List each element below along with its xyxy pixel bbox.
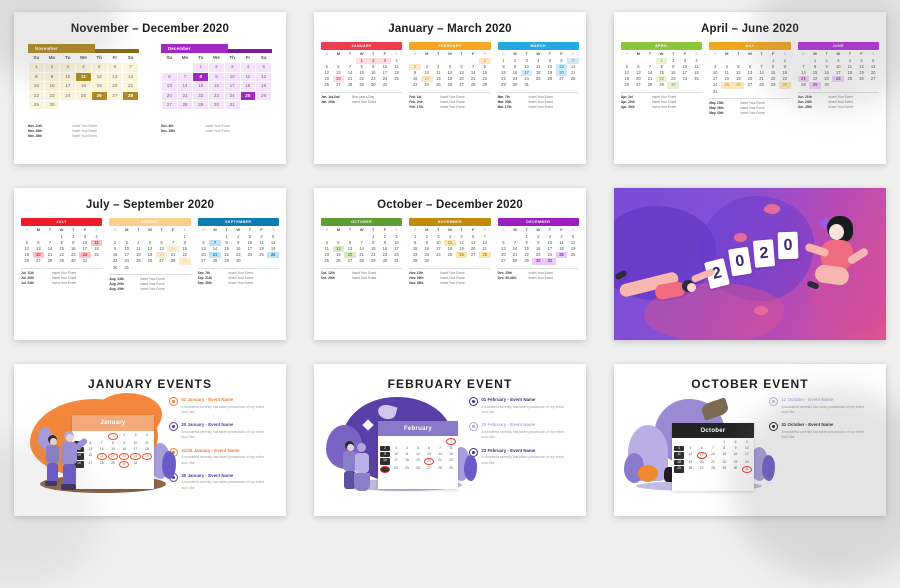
mini-calendar-day-13[interactable]: 13 <box>85 447 95 452</box>
calendar-day-31[interactable]: 31 <box>121 265 133 271</box>
calendar-day-25[interactable]: 25 <box>240 91 256 100</box>
mini-calendar-january: January 12345678910111213141516171819202… <box>72 415 154 489</box>
calendar-day-empty <box>91 258 103 264</box>
slide-jan-mar[interactable]: January – March 2020 JANUARYSMTWTFS12345… <box>314 12 586 164</box>
event-list-item[interactable]: 30 January - Event NameA wonderful seren… <box>169 473 272 491</box>
calendar-day-10[interactable]: 10 <box>60 72 76 81</box>
calendar-day-empty <box>256 110 272 119</box>
calendar-table-december: Su Mo Tu We Th Fr Sa 1234567891011121314… <box>161 53 272 120</box>
mini-calendar-day-14[interactable]: 14 <box>708 452 718 459</box>
calendar-day-29[interactable]: 29 <box>521 258 533 264</box>
calendar-day-29[interactable]: 29 <box>367 258 379 264</box>
calendar-week-row: 15161718192021 <box>29 82 139 91</box>
calendar-day-19[interactable]: 19 <box>256 82 272 91</box>
mini-calendar-day-7[interactable]: 7 <box>97 441 107 446</box>
month-name: JUNE <box>798 42 879 50</box>
mini-calendar-day-9[interactable]: 9 <box>119 441 129 446</box>
mini-calendar-day-16[interactable]: 16 <box>380 458 390 465</box>
calendar-day-28[interactable]: 28 <box>209 258 221 264</box>
calendar-day-30[interactable]: 30 <box>209 101 225 110</box>
slide-title: April – June 2020 <box>614 23 886 35</box>
calendar-day-empty <box>193 110 209 119</box>
event-heading: 31 October - Event Name <box>781 422 872 428</box>
mini-calendar-day-13[interactable]: 13 <box>697 452 707 459</box>
event-list-item[interactable]: 23 February - Event NameA wonderful sere… <box>469 448 572 466</box>
mini-calendar-day-7[interactable]: 7 <box>435 446 445 451</box>
slide-february-event[interactable]: FEBRUARY EVENT February 1234567891011121… <box>314 364 586 516</box>
mini-calendar-day-8[interactable]: 8 <box>108 441 118 446</box>
mini-calendar-day-4[interactable]: 4 <box>402 446 412 451</box>
mini-calendar-day-22[interactable]: 22 <box>719 460 729 465</box>
mini-calendar-day-10[interactable]: 10 <box>742 446 752 451</box>
calendar-day-30[interactable]: 30 <box>367 82 379 88</box>
slide-title: January – March 2020 <box>314 23 586 35</box>
calendar-day-24[interactable]: 24 <box>60 91 76 100</box>
month-events-november: Nov. 11thInsert Your EventNov. 26thInser… <box>28 124 139 140</box>
calendar-day-29[interactable]: 29 <box>656 82 668 88</box>
calendar-day-10[interactable]: 10 <box>224 72 240 81</box>
calendar-day-29[interactable]: 29 <box>409 258 421 264</box>
calendar-day-30[interactable]: 30 <box>44 101 60 110</box>
mini-calendar-day-11[interactable]: 11 <box>674 452 684 459</box>
event-body-text: A wonderful serenity has taken possessio… <box>181 405 272 416</box>
slide-cell-7: JANUARY EVENTS January 12345678910111213… <box>0 352 300 528</box>
mini-calendar-day-22[interactable]: 22 <box>108 453 118 460</box>
calendar-day-7[interactable]: 7 <box>177 72 193 81</box>
month-events: Nov. 11thInsert Your EventNov. 26thInser… <box>409 268 490 287</box>
mini-calendar-day-20[interactable]: 20 <box>424 458 434 465</box>
mini-calendar-day-30[interactable]: 30 <box>119 461 129 468</box>
calendar-day-23[interactable]: 23 <box>409 82 421 88</box>
calendar-day-29[interactable]: 29 <box>356 82 368 88</box>
calendar-day-empty <box>123 110 139 119</box>
calendar-event-row: Jan. 20thInsert Your Event <box>321 100 402 105</box>
calendar-day-16[interactable]: 16 <box>44 82 60 91</box>
weekday-row: Su Mo Tu We Th Fr Sa <box>29 54 139 63</box>
mini-calendar-day-13[interactable]: 13 <box>424 452 434 457</box>
calendar-day-9[interactable]: 9 <box>44 72 60 81</box>
calendar-day-24[interactable]: 24 <box>421 82 433 88</box>
calendar-day-9[interactable]: 9 <box>209 72 225 81</box>
mini-calendar-day-22[interactable]: 22 <box>446 458 456 465</box>
calendar-day-29[interactable]: 29 <box>498 82 510 88</box>
blob-purple-right2 <box>162 451 176 479</box>
calendar-day-empty <box>76 101 92 110</box>
mini-calendar-day-28[interactable]: 28 <box>435 466 445 473</box>
calendar-day-27[interactable]: 27 <box>498 258 510 264</box>
mini-calendar-day-1[interactable]: 1 <box>719 440 729 445</box>
calendar-day-26[interactable]: 26 <box>621 82 633 88</box>
blob-accent-2 <box>734 233 747 242</box>
calendar-day-7[interactable]: 7 <box>123 63 139 72</box>
mini-calendar-day-27[interactable]: 27 <box>424 466 434 473</box>
calendar-day-empty <box>156 265 168 271</box>
calendar-day-12[interactable]: 12 <box>91 72 107 81</box>
calendar-day-31[interactable]: 31 <box>379 82 391 88</box>
calendar-day-29[interactable]: 29 <box>221 258 233 264</box>
month-name: December <box>161 44 228 53</box>
calendar-day-26[interactable]: 26 <box>91 91 107 100</box>
calendar-day-27[interactable]: 27 <box>107 91 123 100</box>
calendar-day-28[interactable]: 28 <box>356 258 368 264</box>
mini-calendar-day-9[interactable]: 9 <box>380 452 390 457</box>
event-text: Insert Your Event <box>652 105 702 110</box>
mini-calendar-day-23[interactable]: 23 <box>119 453 129 460</box>
mini-calendar-day-31[interactable]: 31 <box>742 466 752 473</box>
mini-calendar-day-15[interactable]: 15 <box>108 447 118 452</box>
event-body-text: A wonderful serenity has taken possessio… <box>781 430 872 441</box>
calendar-day-30[interactable]: 30 <box>821 82 833 88</box>
mini-calendar-day-11[interactable]: 11 <box>402 452 412 457</box>
mini-calendar-day-3[interactable]: 3 <box>130 433 140 440</box>
calendar-day-18[interactable]: 18 <box>240 82 256 91</box>
calendar-day-22[interactable]: 22 <box>193 91 209 100</box>
event-list-item[interactable]: 20 January - Event NameA wonderful seren… <box>169 422 272 440</box>
mini-calendar-day-6[interactable]: 6 <box>697 446 707 451</box>
calendar-day-1[interactable]: 1 <box>29 63 45 72</box>
calendar-day-31[interactable]: 31 <box>521 82 533 88</box>
weekday-th: Th <box>91 54 107 63</box>
calendar-day-29[interactable]: 29 <box>193 101 209 110</box>
calendar-day-13[interactable]: 13 <box>162 82 178 91</box>
event-body-text: A wonderful serenity has taken possessio… <box>181 480 272 491</box>
calendar-day-30[interactable]: 30 <box>232 258 244 264</box>
calendar-day-24[interactable]: 24 <box>224 91 240 100</box>
mini-calendar-day-3[interactable]: 3 <box>742 440 752 445</box>
calendar-day-13[interactable]: 13 <box>107 72 123 81</box>
event-text-block: 30 January - Event NameA wonderful seren… <box>181 473 272 491</box>
month-events: Mar. 7thInsert Your EventMar. 30thInsert… <box>498 92 579 111</box>
calendar-day-26[interactable]: 26 <box>21 258 33 264</box>
calendar-day-28[interactable]: 28 <box>44 258 56 264</box>
calendar-day-empty <box>123 101 139 110</box>
month-november: November Su Mo Tu We Th Fr Sa 1234567891… <box>28 44 139 139</box>
calendar-day-6[interactable]: 6 <box>162 72 178 81</box>
calendar-day-29[interactable]: 29 <box>29 101 45 110</box>
mini-calendar-day-16[interactable]: 16 <box>730 452 740 459</box>
calendar-day-29[interactable]: 29 <box>479 82 491 88</box>
slide-jul-sep[interactable]: July – September 2020 JULYSMTWTFS1234567… <box>14 188 286 340</box>
mini-calendar-day-15[interactable]: 15 <box>446 452 456 457</box>
calendar-day-empty <box>444 258 456 264</box>
mini-calendar-day-28[interactable]: 28 <box>97 461 107 468</box>
mini-calendar-day-11[interactable]: 11 <box>142 441 152 446</box>
event-text: Insert Your Event <box>352 276 402 281</box>
mini-calendar-month-label: February <box>378 421 458 436</box>
mini-calendar-day-empty <box>697 440 707 445</box>
mini-calendar-day-25[interactable]: 25 <box>402 466 412 473</box>
mini-calendar-day-29[interactable]: 29 <box>108 461 118 468</box>
calendar-day-27[interactable]: 27 <box>344 258 356 264</box>
calendar-day-19[interactable]: 19 <box>91 82 107 91</box>
mini-calendar-day-8[interactable]: 8 <box>719 446 729 451</box>
calendar-day-30[interactable]: 30 <box>509 82 521 88</box>
mini-calendar-day-29[interactable]: 29 <box>719 466 729 473</box>
calendar-day-28[interactable]: 28 <box>344 82 356 88</box>
calendar-day-11[interactable]: 11 <box>76 72 92 81</box>
calendar-day-28[interactable]: 28 <box>644 82 656 88</box>
calendar-day-29[interactable]: 29 <box>809 82 821 88</box>
calendar-day-27[interactable]: 27 <box>198 258 210 264</box>
slide-october-event[interactable]: OCTOBER EVENT October 123456789101112131… <box>614 364 886 516</box>
pumpkin-icon <box>638 465 658 482</box>
calendar-day-20[interactable]: 20 <box>162 91 178 100</box>
mini-calendar-day-21[interactable]: 21 <box>708 460 718 465</box>
calendar-week-row: 2627282930 <box>621 82 702 88</box>
calendar-day-29[interactable]: 29 <box>56 258 68 264</box>
mini-calendar-day-25[interactable]: 25 <box>142 453 152 460</box>
mini-calendar-day-12[interactable]: 12 <box>413 452 423 457</box>
calendar-day-27[interactable]: 27 <box>633 82 645 88</box>
mini-calendar-day-29[interactable]: 29 <box>446 466 456 473</box>
calendar-day-14[interactable]: 14 <box>123 72 139 81</box>
weekday-mo: Mo <box>44 54 60 63</box>
event-text-block: 13 October - Event NameA wonderful seren… <box>781 397 872 415</box>
slide-poster-2020[interactable]: 2 0 2 0 <box>614 188 886 340</box>
calendar-day-14[interactable]: 14 <box>177 82 193 91</box>
calendar-week-row: 6789101112 <box>162 72 272 81</box>
calendar-day-21[interactable]: 21 <box>123 82 139 91</box>
calendar-day-28[interactable]: 28 <box>177 101 193 110</box>
calendar-day-26[interactable]: 26 <box>444 82 456 88</box>
calendar-day-31[interactable]: 31 <box>544 258 556 264</box>
slide-january-events[interactable]: JANUARY EVENTS January 12345678910111213… <box>14 364 286 516</box>
mini-calendar-day-12[interactable]: 12 <box>685 452 695 459</box>
calendar-day-empty <box>107 101 123 110</box>
calendar-day-18[interactable]: 18 <box>76 82 92 91</box>
event-heading: 23 February - Event Name <box>481 448 572 454</box>
calendar-day-27[interactable]: 27 <box>162 101 178 110</box>
mini-calendar-day-27[interactable]: 27 <box>697 466 707 473</box>
mini-calendar-day-2[interactable]: 2 <box>119 433 129 440</box>
mini-calendar-day-23[interactable]: 23 <box>730 460 740 465</box>
mini-calendar-day-27[interactable]: 27 <box>85 461 95 468</box>
calendar-day-17[interactable]: 17 <box>224 82 240 91</box>
calendar-day-27[interactable]: 27 <box>456 82 468 88</box>
calendar-day-12[interactable]: 12 <box>256 72 272 81</box>
mini-calendar-day-10[interactable]: 10 <box>391 452 401 457</box>
month-january: JANUARYSMTWTFS12345678910111213141516171… <box>321 42 402 110</box>
calendar-day-30[interactable]: 30 <box>67 258 79 264</box>
month-december: DECEMBERSMTWTFS1234567891011121314151617… <box>498 218 579 286</box>
mini-calendar-day-18[interactable]: 18 <box>674 460 684 465</box>
calendar-day-11[interactable]: 11 <box>240 72 256 81</box>
calendar-day-30[interactable]: 30 <box>667 82 679 88</box>
calendar-day-15[interactable]: 15 <box>193 82 209 91</box>
calendar-table: SMTWTFS123456789101112131415161718192021… <box>498 227 579 264</box>
event-body-text: A wonderful serenity has taken possessio… <box>481 430 572 441</box>
calendar-day-28[interactable]: 28 <box>798 82 810 88</box>
calendar-day-25[interactable]: 25 <box>433 82 445 88</box>
calendar-day-empty <box>567 258 579 264</box>
calendar-day-31[interactable]: 31 <box>391 258 403 264</box>
mini-calendar-day-19[interactable]: 19 <box>685 460 695 465</box>
blob-accent-4 <box>754 306 768 315</box>
event-list-item[interactable]: 01 January - Event NameA wonderful seren… <box>169 397 272 415</box>
calendar-week-row <box>29 110 139 119</box>
calendar-day-1[interactable]: 1 <box>193 63 209 72</box>
month-events: Feb. 1stInsert Your EventFeb. 2ndInsert … <box>409 92 490 111</box>
mini-calendar-day-empty <box>685 440 695 445</box>
mini-calendar-day-6[interactable]: 6 <box>424 446 434 451</box>
mini-calendar-day-24[interactable]: 24 <box>742 460 752 465</box>
calendar-day-25[interactable]: 25 <box>76 91 92 100</box>
calendar-day-2[interactable]: 2 <box>44 63 60 72</box>
mini-calendar-day-15[interactable]: 15 <box>719 452 729 459</box>
quarter-row: APRILSMTWTFS1234567891011121314151617181… <box>614 42 886 116</box>
calendar-day-30[interactable]: 30 <box>421 258 433 264</box>
event-date: Dec. 30-31th <box>498 276 529 281</box>
mini-calendar-day-14[interactable]: 14 <box>97 447 107 452</box>
slide-oct-dec[interactable]: October – December 2020 OCTOBERSMTWTFS12… <box>314 188 586 340</box>
calendar-day-28[interactable]: 28 <box>509 258 521 264</box>
calendar-day-empty <box>844 82 856 88</box>
calendar-day-25[interactable]: 25 <box>321 258 333 264</box>
mini-calendar-day-10[interactable]: 10 <box>130 441 140 446</box>
mini-calendar-day-19[interactable]: 19 <box>413 458 423 465</box>
month-events: Aug. 14thInsert Your EventAug. 20thInser… <box>109 274 190 293</box>
mini-calendar-day-14[interactable]: 14 <box>435 452 445 457</box>
month-name: JULY <box>21 218 102 226</box>
calendar-day-31[interactable]: 31 <box>224 101 240 110</box>
mini-calendar-day-3[interactable]: 3 <box>391 446 401 451</box>
mini-calendar-day-18[interactable]: 18 <box>142 447 152 452</box>
mini-calendar-day-23[interactable]: 23 <box>380 466 390 473</box>
mini-calendar-day-17[interactable]: 17 <box>742 452 752 459</box>
event-list-item[interactable]: 31 October - Event NameA wonderful seren… <box>769 422 872 440</box>
calendar-day-31[interactable]: 31 <box>709 89 721 95</box>
event-list-item[interactable]: 13 October - Event NameA wonderful seren… <box>769 397 872 415</box>
slide-cell-6: 2 0 2 0 <box>600 176 900 352</box>
month-events: Oct. 12thInsert Your EventOct. 20thInser… <box>321 268 402 282</box>
event-list-item[interactable]: 01 February - Event NameA wonderful sere… <box>469 397 572 415</box>
mini-calendar-day-empty <box>97 433 107 440</box>
calendar-table: SMTWTFS123456789101112131415161718192021… <box>798 51 879 88</box>
event-text: Insert Your Event <box>140 287 190 292</box>
mini-calendar-day-26[interactable]: 26 <box>685 466 695 473</box>
witch-icon <box>700 397 730 420</box>
month-name: AUGUST <box>109 218 190 226</box>
calendar-day-31[interactable]: 31 <box>79 258 91 264</box>
calendar-week-row: 262728293031 <box>321 82 402 88</box>
calendar-day-17[interactable]: 17 <box>60 82 76 91</box>
slide-title: OCTOBER EVENT <box>614 377 886 391</box>
calendar-week-row: 20212223242526 <box>162 91 272 100</box>
calendar-day-27[interactable]: 27 <box>333 82 345 88</box>
calendar-day-30[interactable]: 30 <box>109 265 121 271</box>
calendar-day-21[interactable]: 21 <box>177 91 193 100</box>
mini-calendar-day-31[interactable]: 31 <box>130 461 140 468</box>
calendar-day-26[interactable]: 26 <box>333 258 345 264</box>
mini-calendar-day-1[interactable]: 1 <box>108 433 118 440</box>
mini-calendar-day-21[interactable]: 21 <box>97 453 107 460</box>
mini-calendar-day-5[interactable]: 5 <box>685 446 695 451</box>
calendar-day-empty <box>29 110 45 119</box>
event-heading: 01 January - Event Name <box>181 397 272 403</box>
mini-calendar-day-2[interactable]: 2 <box>380 446 390 451</box>
calendar-day-2[interactable]: 2 <box>209 63 225 72</box>
calendar-week-row: 25262728293031 <box>321 258 402 264</box>
mini-calendar-day-4[interactable]: 4 <box>674 446 684 451</box>
mini-calendar-day-25[interactable]: 25 <box>674 466 684 473</box>
calendar-week-row: 31 <box>709 89 790 95</box>
calendar-day-4[interactable]: 4 <box>76 63 92 72</box>
calendar-day-26[interactable]: 26 <box>256 91 272 100</box>
month-february: FEBRUARYSMTWTFS1234567891011121314151617… <box>409 42 490 110</box>
mini-calendar-day-28[interactable]: 28 <box>708 466 718 473</box>
calendar-day-23[interactable]: 23 <box>44 91 60 100</box>
calendar-day-8[interactable]: 8 <box>29 72 45 81</box>
mini-calendar-day-4[interactable]: 4 <box>142 433 152 440</box>
mini-calendar-day-8[interactable]: 8 <box>446 446 456 451</box>
calendar-day-27[interactable]: 27 <box>33 258 45 264</box>
calendar-day-5[interactable]: 5 <box>91 63 107 72</box>
slide-nov-dec[interactable]: November – December 2020 November Su Mo … <box>14 12 286 164</box>
mini-calendar-day-20[interactable]: 20 <box>697 460 707 465</box>
calendar-day-28[interactable]: 28 <box>123 91 139 100</box>
mini-calendar-day-24[interactable]: 24 <box>130 453 140 460</box>
mini-calendar-day-21[interactable]: 21 <box>435 458 445 465</box>
mini-calendar-day-7[interactable]: 7 <box>708 446 718 451</box>
event-list-item[interactable]: 20 February - Event NameA wonderful sere… <box>469 422 572 440</box>
mini-calendar-day-17[interactable]: 17 <box>391 458 401 465</box>
mini-calendar-day-30[interactable]: 30 <box>730 466 740 473</box>
calendar-day-3[interactable]: 3 <box>60 63 76 72</box>
event-heading: 01 February - Event Name <box>481 397 572 403</box>
calendar-day-3[interactable]: 3 <box>224 63 240 72</box>
slide-apr-jun[interactable]: April – June 2020 APRILSMTWTFS1234567891… <box>614 12 886 164</box>
calendar-table: SMTWTFS123456789101112131415161718192021… <box>21 227 102 264</box>
mini-calendar-day-26[interactable]: 26 <box>413 466 423 473</box>
february-illustration: February 1234567891011121314151617181920… <box>322 391 465 499</box>
mini-calendar-day-24[interactable]: 24 <box>391 466 401 473</box>
mini-calendar-day-16[interactable]: 16 <box>119 447 129 452</box>
calendar-day-26[interactable]: 26 <box>321 82 333 88</box>
event-list-item[interactable]: 21/25 January - Event NameA wonderful se… <box>169 448 272 466</box>
mini-calendar-day-2[interactable]: 2 <box>730 440 740 445</box>
calendar-day-15[interactable]: 15 <box>29 82 45 91</box>
mini-calendar-grid: 1234567891011121314151617181920212223242… <box>672 438 754 475</box>
calendar-day-30[interactable]: 30 <box>532 258 544 264</box>
event-text: Insert Your Event <box>829 105 879 110</box>
mini-calendar-day-9[interactable]: 9 <box>730 446 740 451</box>
calendar-day-8[interactable]: 8 <box>193 72 209 81</box>
calendar-day-4[interactable]: 4 <box>240 63 256 72</box>
calendar-week-row: 23242526272829 <box>409 82 490 88</box>
calendar-day-empty <box>832 82 844 88</box>
calendar-day-6[interactable]: 6 <box>107 63 123 72</box>
calendar-day-20[interactable]: 20 <box>107 82 123 91</box>
mini-calendar-month-label: January <box>72 415 154 431</box>
mini-calendar-day-17[interactable]: 17 <box>130 447 140 452</box>
mini-calendar-day-5[interactable]: 5 <box>413 446 423 451</box>
calendar-day-empty <box>60 101 76 110</box>
calendar-day-28[interactable]: 28 <box>467 82 479 88</box>
january-illustration: January 12345678910111213141516171819202… <box>22 391 165 499</box>
mini-calendar-day-18[interactable]: 18 <box>402 458 412 465</box>
calendar-day-30[interactable]: 30 <box>379 258 391 264</box>
event-text: Insert Your Event <box>440 105 490 110</box>
event-text: Insert Your Event <box>740 111 790 116</box>
calendar-day-22[interactable]: 22 <box>29 91 45 100</box>
october-illustration: October 12345678910111213141516171819202… <box>622 391 765 499</box>
calendar-day-5[interactable]: 5 <box>256 63 272 72</box>
calendar-week-row: 27282930 <box>198 258 279 264</box>
mini-calendar-day-20[interactable]: 20 <box>85 453 95 460</box>
calendar-day-16[interactable]: 16 <box>209 82 225 91</box>
mini-calendar-day-1[interactable]: 1 <box>446 438 456 445</box>
calendar-day-23[interactable]: 23 <box>209 91 225 100</box>
